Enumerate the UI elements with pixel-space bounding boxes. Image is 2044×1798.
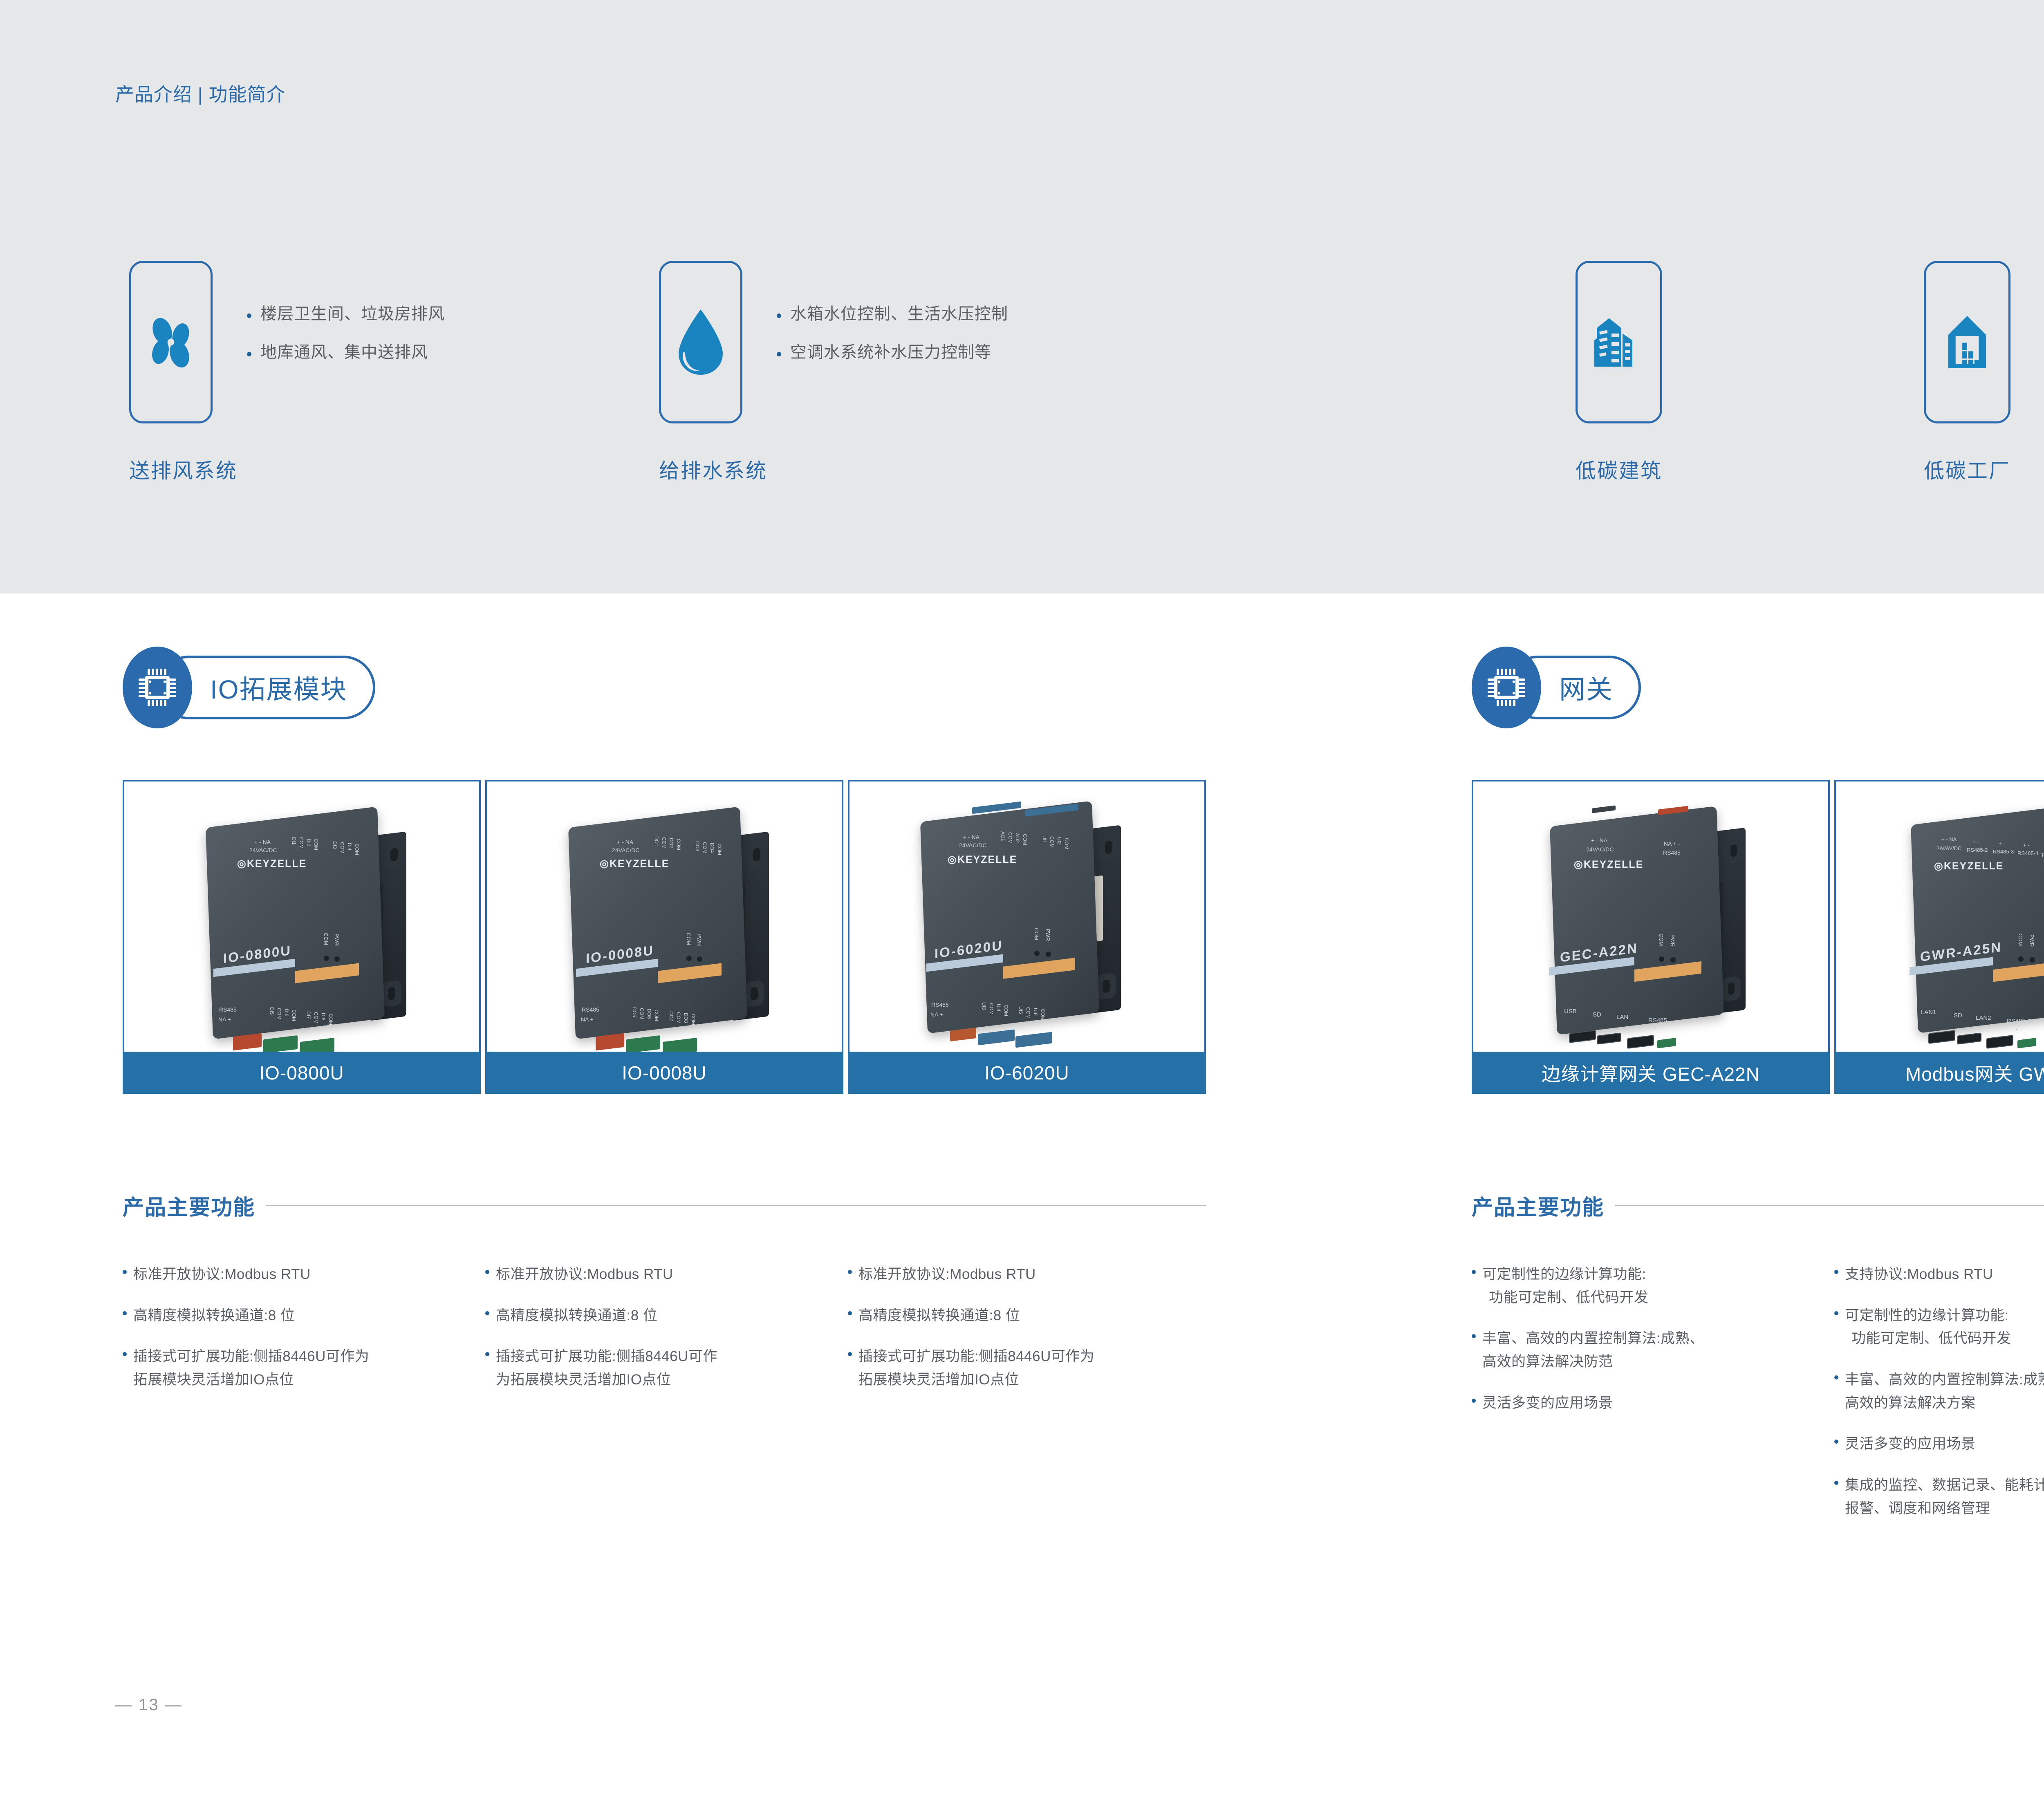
bullet-text: 楼层卫生间、垃圾房排风 — [260, 306, 445, 322]
bullet-dot-icon — [777, 352, 781, 356]
feature-item: 丰富、高效的内置控制算法:成熟、 高效的算法解决防范 — [1472, 1327, 1823, 1373]
bullet-item: 空调水系统补水压力控制等 — [777, 344, 1008, 360]
factory-icon-card — [1924, 261, 2010, 423]
fan-icon-card — [129, 261, 213, 423]
device-illustration: + - NA 24VAC/DC DO1 COM DO2 COM DO3 COM … — [487, 781, 842, 1052]
bullet-dot-icon — [1834, 1481, 1838, 1485]
feature-item: 高精度模拟转换通道:8 位 — [123, 1304, 474, 1328]
feature-item: 标准开放协议:Modbus RTU — [123, 1263, 474, 1286]
product-name: IO-0008U — [622, 1062, 706, 1084]
bullet-dot-icon — [1834, 1311, 1838, 1315]
feature-item: 丰富、高效的内置控制算法:成熟、 高效的算法解决方案 — [1834, 1368, 2044, 1415]
feature-item: 支持协议:Modbus RTU — [1834, 1263, 2044, 1286]
device-illustration: + - NA 24VAC/DC DI1 COM DI2 COM DI3 COM … — [124, 781, 479, 1052]
feature-item: 标准开放协议:Modbus RTU — [485, 1263, 837, 1286]
bullet-dot-icon — [123, 1270, 127, 1274]
feature-column-1: 标准开放协议:Modbus RTU 高精度模拟转换通道:8 位 插接式可扩展功能… — [123, 1263, 474, 1410]
section-header-gateway: 网关 — [1472, 647, 1641, 728]
bullet-dot-icon — [485, 1270, 489, 1274]
chip-icon — [136, 666, 179, 709]
bullet-dot-icon — [247, 352, 251, 356]
feature-label: 送排风系统 — [129, 455, 238, 484]
feature-item: 高精度模拟转换通道:8 位 — [485, 1304, 837, 1328]
bullet-dot-icon — [485, 1352, 489, 1356]
bullet-dot-icon — [1834, 1270, 1838, 1274]
feature-item: 插接式可扩展功能:侧插8446U可作为 拓展模块灵活增加IO点位 — [848, 1345, 1208, 1391]
bullet-dot-icon — [1834, 1440, 1838, 1444]
gateway-feature-column-1: 可定制性的边缘计算功能: 功能可定制、低代码开发 丰富、高效的内置控制算法:成熟… — [1472, 1263, 1823, 1433]
chip-icon-badge — [123, 647, 192, 728]
product-image: + - NA 24VAC/DC DO1 COM DO2 COM DO3 COM … — [487, 781, 842, 1052]
feature-item: 可定制性的边缘计算功能: 功能可定制、低代码开发 — [1472, 1263, 1823, 1309]
func-heading-gateway: 产品主要功能 — [1472, 1190, 2044, 1221]
heading-rule — [1615, 1205, 2044, 1206]
heading-rule — [266, 1205, 1206, 1206]
feature-text: 标准开放协议:Modbus RTU — [858, 1263, 1036, 1286]
device-illustration: + - NA 24VAC/DC NA + - RS485 ◎KEYZELLE G… — [1473, 781, 1828, 1052]
chip-icon — [1485, 666, 1528, 709]
feature-item: 灵活多变的应用场景 — [1834, 1433, 2044, 1456]
product-card-io-6020u[interactable]: + - NA 24VAC/DC AO1 COM AO2 COM UI1 COM … — [848, 780, 1206, 1094]
feature-text: 可定制性的边缘计算功能: 功能可定制、低代码开发 — [1482, 1263, 1649, 1309]
bullet-dot-icon — [848, 1270, 852, 1274]
top-gray-band — [0, 0, 2044, 593]
device-illustration: + - NA 2AVAV/DC + - RS485-2 + - RS485-3 … — [1836, 781, 2044, 1052]
water-drop-icon — [674, 308, 728, 376]
feature-text: 高精度模拟转换通道:8 位 — [858, 1304, 1020, 1328]
product-image: + - NA 24VAC/DC DI1 COM DI2 COM DI3 COM … — [124, 781, 479, 1052]
section-header-io: IO拓展模块 — [123, 647, 375, 728]
bullet-item: 地库通风、集中送排风 — [247, 344, 445, 360]
bullet-item: 水箱水位控制、生活水压控制 — [777, 306, 1008, 322]
scene-label: 低碳工厂 — [1924, 455, 2010, 484]
product-card-io-0800u[interactable]: + - NA 24VAC/DC DI1 COM DI2 COM DI3 COM … — [123, 780, 481, 1094]
scene-label: 低碳建筑 — [1576, 455, 1662, 484]
feature-text: 丰富、高效的内置控制算法:成熟、 高效的算法解决方案 — [1845, 1368, 2044, 1415]
feature-text: 高精度模拟转换通道:8 位 — [133, 1304, 295, 1328]
bullet-item: 楼层卫生间、垃圾房排风 — [247, 306, 445, 322]
feature-text: 插接式可扩展功能:侧插8446U可作为 拓展模块灵活增加IO点位 — [858, 1345, 1094, 1391]
feature-text: 高精度模拟转换通道:8 位 — [496, 1304, 657, 1328]
bullet-dot-icon — [247, 313, 251, 318]
section-title: IO拓展模块 — [210, 669, 347, 706]
product-card-io-0008u[interactable]: + - NA 24VAC/DC DO1 COM DO2 COM DO3 COM … — [485, 780, 843, 1094]
feature-item: 高精度模拟转换通道:8 位 — [848, 1304, 1208, 1328]
section-title: 网关 — [1559, 669, 1613, 706]
feature-text: 标准开放协议:Modbus RTU — [496, 1263, 673, 1286]
page-number-left: — 13 — — [115, 1696, 183, 1714]
product-name: IO-0800U — [259, 1062, 344, 1084]
product-name-bar: IO-0008U — [485, 1052, 843, 1094]
feature-item: 插接式可扩展功能:侧插8446U可作 为拓展模块灵活增加IO点位 — [485, 1345, 837, 1391]
feature-text: 丰富、高效的内置控制算法:成熟、 高效的算法解决防范 — [1482, 1327, 1704, 1373]
product-image: + - NA 24VAC/DC AO1 COM AO2 COM UI1 COM … — [849, 781, 1204, 1052]
feature-text: 集成的监控、数据记录、能耗计量、 报警、调度和网络管理 — [1845, 1474, 2044, 1520]
gateway-feature-column-2: 支持协议:Modbus RTU 可定制性的边缘计算功能: 功能可定制、低代码开发… — [1834, 1263, 2044, 1538]
product-name: Modbus网关 GWR-A25N — [1905, 1059, 2044, 1086]
product-card-gec-a22n[interactable]: + - NA 24VAC/DC NA + - RS485 ◎KEYZELLE G… — [1472, 780, 1830, 1094]
feature-item: 标准开放协议:Modbus RTU — [848, 1263, 1208, 1286]
feature-text: 可定制性的边缘计算功能: 功能可定制、低代码开发 — [1845, 1304, 2011, 1350]
bullet-dot-icon — [123, 1352, 127, 1356]
water-drop-icon-card — [659, 261, 742, 423]
bullet-dot-icon — [777, 313, 781, 318]
feature-text: 支持协议:Modbus RTU — [1845, 1263, 1993, 1286]
factory-icon — [1942, 311, 1992, 373]
top-scene-building: 低碳建筑 — [1576, 261, 1662, 484]
bullet-text: 空调水系统补水压力控制等 — [790, 344, 991, 360]
product-name-bar: IO-0800U — [123, 1052, 481, 1094]
bullet-dot-icon — [1834, 1375, 1838, 1379]
feature-text: 标准开放协议:Modbus RTU — [133, 1263, 311, 1286]
feature-item: 插接式可扩展功能:侧插8446U可作为 拓展模块灵活增加IO点位 — [123, 1345, 474, 1391]
bullet-dot-icon — [848, 1311, 852, 1315]
feature-item: 可定制性的边缘计算功能: 功能可定制、低代码开发 — [1834, 1304, 2044, 1350]
feature-column-3: 标准开放协议:Modbus RTU 高精度模拟转换通道:8 位 插接式可扩展功能… — [848, 1263, 1208, 1410]
feature-column-2: 标准开放协议:Modbus RTU 高精度模拟转换通道:8 位 插接式可扩展功能… — [485, 1263, 837, 1410]
running-header-left: 产品介绍 | 功能简介 — [115, 80, 286, 107]
feature-item: 集成的监控、数据记录、能耗计量、 报警、调度和网络管理 — [1834, 1474, 2044, 1520]
bullet-dot-icon — [1472, 1399, 1476, 1403]
feature-text: 插接式可扩展功能:侧插8446U可作为 拓展模块灵活增加IO点位 — [133, 1345, 369, 1391]
top-feature-water: 水箱水位控制、生活水压控制 空调水系统补水压力控制等 给排水系统 — [659, 261, 767, 484]
bullet-dot-icon — [123, 1311, 127, 1315]
product-card-gwr-a25n[interactable]: + - NA 2AVAV/DC + - RS485-2 + - RS485-3 … — [1834, 780, 2044, 1094]
water-bullets: 水箱水位控制、生活水压控制 空调水系统补水压力控制等 — [777, 306, 1008, 383]
office-buildings-icon-card — [1576, 261, 1662, 423]
feature-text: 灵活多变的应用场景 — [1482, 1392, 1613, 1415]
feature-text: 灵活多变的应用场景 — [1845, 1433, 1976, 1456]
chip-icon-badge — [1472, 647, 1541, 728]
ventilation-bullets: 楼层卫生间、垃圾房排风 地库通风、集中送排风 — [247, 306, 445, 383]
fan-icon — [140, 311, 202, 373]
func-heading-text: 产品主要功能 — [123, 1190, 255, 1221]
top-feature-ventilation: 楼层卫生间、垃圾房排风 地库通风、集中送排风 送排风系统 — [129, 261, 238, 484]
bullet-text: 地库通风、集中送排风 — [260, 344, 428, 360]
product-image: + - NA 2AVAV/DC + - RS485-2 + - RS485-3 … — [1836, 781, 2044, 1052]
product-name-bar: Modbus网关 GWR-A25N — [1834, 1052, 2044, 1094]
feature-text: 插接式可扩展功能:侧插8446U可作 为拓展模块灵活增加IO点位 — [496, 1345, 717, 1391]
bullet-dot-icon — [1472, 1334, 1476, 1338]
bullet-dot-icon — [485, 1311, 489, 1315]
product-name: IO-6020U — [984, 1062, 1069, 1084]
office-buildings-icon — [1591, 311, 1647, 373]
product-image: + - NA 24VAC/DC NA + - RS485 ◎KEYZELLE G… — [1473, 781, 1828, 1052]
feature-label: 给排水系统 — [659, 455, 767, 484]
product-name-bar: 边缘计算网关 GEC-A22N — [1472, 1052, 1830, 1094]
bullet-text: 水箱水位控制、生活水压控制 — [790, 306, 1008, 322]
func-heading-text: 产品主要功能 — [1472, 1190, 1604, 1221]
func-heading-io: 产品主要功能 — [123, 1190, 1206, 1221]
top-scene-factory: 低碳工厂 — [1924, 261, 2010, 484]
product-name-bar: IO-6020U — [848, 1052, 1206, 1094]
bullet-dot-icon — [1472, 1270, 1476, 1274]
feature-item: 灵活多变的应用场景 — [1472, 1392, 1823, 1415]
bullet-dot-icon — [848, 1352, 852, 1356]
device-illustration: + - NA 24VAC/DC AO1 COM AO2 COM UI1 COM … — [849, 781, 1204, 1052]
product-name: 边缘计算网关 GEC-A22N — [1542, 1059, 1760, 1086]
